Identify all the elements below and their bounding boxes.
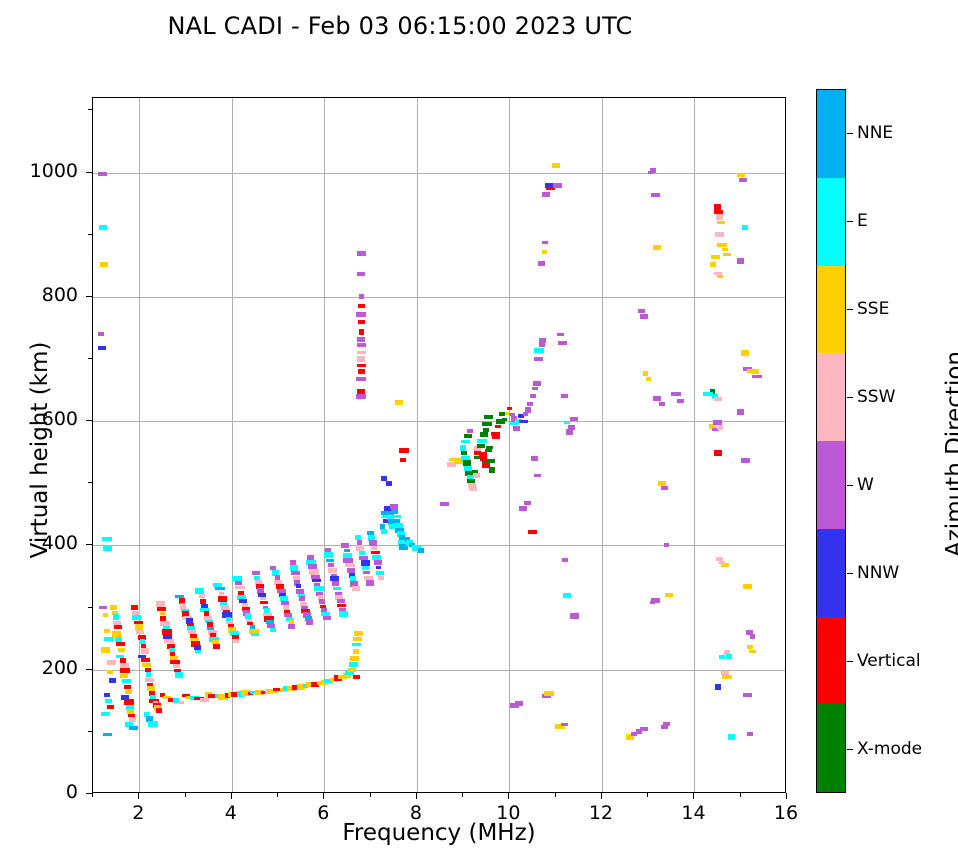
data-point [104,629,110,633]
data-point [254,576,260,580]
data-point [461,440,470,443]
y-tick [86,420,92,421]
data-point [332,581,339,586]
data-point [352,643,361,646]
data-point [643,371,648,376]
data-point [146,672,151,677]
data-point [233,639,239,643]
data-point [653,396,661,401]
data-point [107,670,113,674]
data-point [328,568,337,573]
data-point [742,225,748,230]
data-point [715,684,721,690]
data-point [339,611,348,617]
data-point [665,593,673,597]
data-point [640,314,648,319]
colorbar-tick [847,397,853,398]
data-point [104,637,114,641]
data-point [103,733,112,736]
data-point [291,571,300,575]
data-point [715,232,724,237]
x-tick-minor [370,793,371,797]
x-tick-minor [555,793,556,797]
x-tick [231,793,232,799]
x-tick [323,793,324,799]
data-point [288,624,295,629]
data-point [534,474,541,477]
y-tick [86,544,92,545]
data-point [357,356,365,362]
colorbar-segment-e [817,178,845,266]
ionogram-figure: NAL CADI - Feb 03 06:15:00 2023 UTC 2468… [0,0,958,857]
data-point [357,351,366,354]
x-tick [693,793,694,799]
data-point [513,426,520,431]
data-point [737,258,744,264]
data-point [561,394,568,398]
data-point [566,429,573,435]
x-tick [416,793,417,799]
data-point [358,369,365,374]
data-point [344,549,350,552]
data-point [533,381,541,386]
data-point [357,343,366,347]
data-point [525,407,531,413]
colorbar-tick [847,485,853,486]
data-point [103,546,112,551]
data-point [386,481,392,486]
data-point [148,721,158,727]
data-point [677,399,684,403]
data-point [371,546,377,550]
data-point [743,584,752,589]
data-point [710,262,716,267]
data-point [173,664,180,668]
data-point [552,163,560,168]
data-point [659,402,665,406]
data-point [136,630,144,634]
data-point [376,566,381,569]
data-point [215,587,225,590]
colorbar-segment-nnw [817,529,845,617]
data-point [246,619,252,622]
data-point [562,558,568,562]
data-point [260,601,268,604]
data-point [532,387,538,390]
data-point [399,448,409,453]
y-tick-minor [88,358,92,359]
colorbar-segment-sse [817,266,845,354]
data-point [743,693,752,697]
data-point [120,674,128,678]
y-tick-minor [88,482,92,483]
data-point [469,486,477,491]
data-point [507,407,512,410]
x-tick [601,793,602,799]
data-point [651,193,660,197]
data-point [366,580,374,586]
data-point [751,369,759,374]
data-point [107,705,114,709]
data-point [546,187,555,190]
data-point [356,312,366,317]
y-tick [86,172,92,173]
data-point [200,599,206,604]
data-point [350,656,359,661]
colorbar-segment-ssw [817,353,845,441]
data-point [326,559,334,562]
data-point [477,444,485,448]
colorbar-label-vertical: Vertical [857,651,921,671]
data-point [112,631,121,637]
data-point [714,397,722,401]
data-point [524,501,531,505]
data-point [124,685,131,689]
data-point [703,392,713,396]
data-point [750,634,755,639]
data-point [519,420,528,423]
x-tick-minor [740,793,741,797]
data-point [711,255,720,259]
data-point [741,458,750,463]
data-point [98,172,107,176]
colorbar-tick [847,749,853,750]
data-point [157,607,166,611]
data-point [737,173,745,177]
data-point [353,637,362,641]
data-point [353,649,359,654]
x-tick-minor [462,793,463,797]
data-point [195,650,201,653]
data-point [101,647,110,653]
data-point [132,611,140,615]
data-point [483,428,489,432]
data-point [343,558,353,563]
data-point [359,329,364,335]
data-point [178,701,184,704]
data-point [716,214,723,220]
data-point [515,701,523,706]
data-point [99,606,107,609]
x-tick-minor [277,793,278,797]
data-point [358,304,365,308]
data-point [314,586,324,591]
colorbar-label-ssw: SSW [857,387,895,407]
data-point [658,481,666,486]
data-point [98,332,104,336]
data-point [200,698,209,702]
data-point [542,241,548,244]
data-point [213,644,220,649]
data-point [145,678,154,682]
data-point [260,597,266,600]
x-tick [786,793,787,799]
data-point [102,537,112,541]
data-point [98,346,106,350]
data-point [538,261,545,266]
data-point [722,248,728,251]
data-point [564,421,570,424]
colorbar [816,89,846,793]
x-tick [138,793,139,799]
x-axis-label: Frequency (MHz) [92,820,786,846]
data-point [357,364,366,367]
data-point [345,563,355,567]
plot-area [92,97,786,793]
data-point [561,723,568,726]
y-tick [86,669,92,670]
y-axis-label: Virtual height (km) [27,100,53,800]
data-point [723,253,731,256]
data-point [534,357,543,361]
data-point [337,604,346,607]
colorbar-segment-vertical [817,617,845,705]
data-point [376,571,384,575]
data-point [741,350,749,356]
data-point [527,402,533,406]
data-point [319,599,325,604]
data-point [359,294,364,299]
x-tick-minor [185,793,186,797]
data-point [394,519,400,523]
data-point [142,663,151,667]
data-point [722,675,732,679]
data-point [717,425,723,430]
y-tick-minor [88,607,92,608]
y-tick-minor [88,731,92,732]
data-point [118,648,125,652]
data-point [539,343,545,347]
data-point [120,668,130,673]
data-point [131,605,138,610]
data-point [558,341,567,345]
data-point [357,251,366,256]
data-point [363,571,370,574]
data-point [650,168,656,173]
data-point [719,655,725,659]
data-point [477,439,487,443]
data-point [341,543,349,548]
x-tick [508,793,509,799]
data-point [542,250,547,254]
data-point [113,614,119,620]
data-point [519,506,527,511]
data-point [553,183,562,188]
data-point [568,425,575,430]
data-point [482,422,492,426]
data-point [473,473,480,478]
data-point [348,668,356,672]
data-point [528,530,537,534]
data-point [251,633,259,636]
data-point [544,691,554,696]
colorbar-segment-x-mode [817,704,845,792]
data-point [484,415,493,419]
data-point [357,272,365,276]
data-point [418,548,424,553]
colorbar-tick [847,661,853,662]
data-point [661,486,668,490]
data-point [747,732,753,736]
data-point [378,576,384,580]
data-point [312,579,321,582]
data-point [169,648,175,652]
data-point [296,584,301,588]
data-point [132,615,141,620]
data-point [489,467,495,473]
data-point [728,734,735,740]
data-point [101,712,110,716]
data-point [640,727,648,731]
data-point [440,502,449,506]
data-point [395,400,403,405]
data-point [114,625,122,629]
colorbar-label-nnw: NNW [857,563,899,583]
data-point [349,662,358,667]
data-point [356,394,366,399]
data-point [570,417,578,421]
scatter-data-layer [93,98,785,792]
data-point [141,658,150,662]
data-point [125,690,132,694]
data-point [638,309,645,313]
data-point [714,450,722,456]
data-point [400,458,406,462]
data-point [323,616,331,620]
data-point [651,598,660,603]
data-point [531,456,538,461]
data-point [164,639,174,643]
data-point [357,337,365,342]
data-point [717,243,727,247]
data-point [175,672,183,678]
data-point [122,679,131,683]
data-point [749,650,756,653]
data-point [371,551,380,554]
data-point [721,563,729,567]
data-point [495,425,501,428]
data-point [534,348,544,353]
colorbar-axis-label: Azimuth Direction [942,104,958,804]
data-point [238,591,244,595]
colorbar-tick [847,221,853,222]
data-point [358,320,365,324]
data-point [539,338,546,343]
data-point [374,560,382,565]
data-point [502,418,507,421]
data-point [381,529,387,534]
colorbar-tick [847,133,853,134]
data-point [235,581,242,585]
data-point [324,552,333,558]
data-point [671,392,681,396]
data-point [107,660,116,665]
data-point [663,722,670,726]
data-point [487,459,495,463]
data-point [464,434,472,438]
data-point [739,178,747,182]
data-point [356,377,366,381]
data-point [362,566,369,570]
data-point [664,543,669,547]
data-point [116,642,125,646]
colorbar-label-sse: SSE [857,299,889,319]
data-point [252,571,260,575]
data-point [717,275,723,278]
data-point [467,429,473,433]
data-point [100,262,108,267]
y-tick [86,296,92,297]
page-title: NAL CADI - Feb 03 06:15:00 2023 UTC [0,12,800,40]
data-point [646,377,651,381]
data-point [492,435,500,439]
colorbar-label-e: E [857,211,868,231]
data-point [717,221,725,224]
data-point [737,409,744,415]
data-point [352,586,360,591]
data-point [199,594,205,598]
data-point [129,726,138,730]
data-point [726,654,732,659]
data-point [542,192,550,197]
y-tick [86,793,92,794]
data-point [140,639,145,644]
data-point [480,432,488,437]
data-point [486,446,493,449]
data-point [141,648,149,654]
data-point [276,584,284,589]
data-point [105,699,112,703]
data-point [752,375,762,378]
data-point [235,586,245,589]
data-point [306,619,313,625]
x-tick-minor [647,793,648,797]
data-point [391,509,398,514]
data-point [570,613,579,619]
data-point [145,668,151,672]
data-point [354,631,363,636]
data-point [359,551,365,555]
data-point [103,613,108,617]
data-point [99,225,107,230]
data-point [270,628,276,632]
colorbar-tick [847,573,853,574]
data-point [557,333,564,336]
y-tick-minor [88,109,92,110]
data-point [530,394,536,398]
data-point [461,451,467,455]
colorbar-segment-w [817,441,845,529]
data-point [328,563,334,567]
data-point [485,449,492,452]
x-tick-minor [92,793,93,797]
data-point [653,245,661,250]
data-point [281,601,289,605]
colorbar-tick [847,309,853,310]
colorbar-label-w: W [857,475,874,495]
data-point [156,708,162,713]
y-tick-minor [88,234,92,235]
colorbar-label-x-mode: X-mode [857,739,922,759]
data-point [299,596,305,601]
data-point [714,272,722,275]
data-point [109,678,116,683]
colorbar-segment-nne [817,90,845,178]
colorbar-label-nne: NNE [857,123,893,143]
data-point [110,605,117,610]
data-point [104,693,110,697]
data-point [563,593,571,598]
